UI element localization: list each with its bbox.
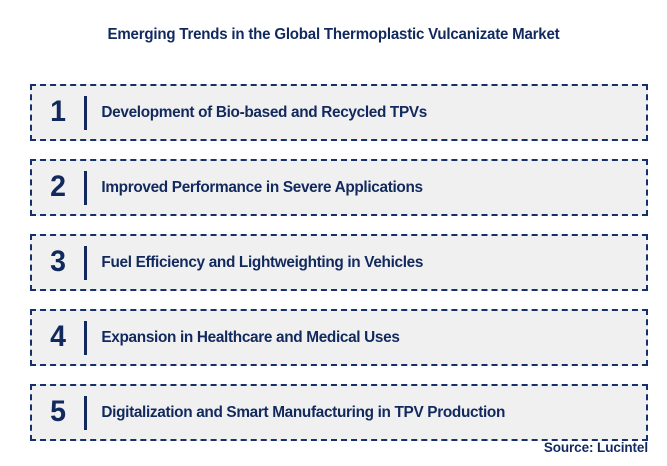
trend-label: Expansion in Healthcare and Medical Uses: [87, 328, 624, 348]
trend-row: 2 Improved Performance in Severe Applica…: [30, 159, 648, 216]
trend-label: Development of Bio-based and Recycled TP…: [87, 103, 624, 123]
trend-row: 3 Fuel Efficiency and Lightweighting in …: [30, 234, 648, 291]
trend-row: 1 Development of Bio-based and Recycled …: [30, 84, 648, 141]
trend-label: Fuel Efficiency and Lightweighting in Ve…: [87, 253, 624, 273]
trend-rank-number: 3: [33, 247, 82, 279]
source-attribution: Source: Lucintel: [544, 440, 648, 456]
trend-label: Digitalization and Smart Manufacturing i…: [87, 403, 624, 423]
trend-row: 5 Digitalization and Smart Manufacturing…: [30, 384, 648, 441]
trend-rank-number: 4: [33, 322, 82, 354]
trend-list: 1 Development of Bio-based and Recycled …: [30, 84, 648, 441]
trend-row: 4 Expansion in Healthcare and Medical Us…: [30, 309, 648, 366]
trend-label: Improved Performance in Severe Applicati…: [87, 178, 624, 198]
page-title: Emerging Trends in the Global Thermoplas…: [10, 25, 657, 45]
trend-rank-number: 1: [33, 97, 82, 129]
trend-rank-number: 2: [33, 172, 82, 204]
emerging-trends-infographic: Emerging Trends in the Global Thermoplas…: [0, 0, 667, 466]
trend-rank-number: 5: [33, 397, 82, 429]
